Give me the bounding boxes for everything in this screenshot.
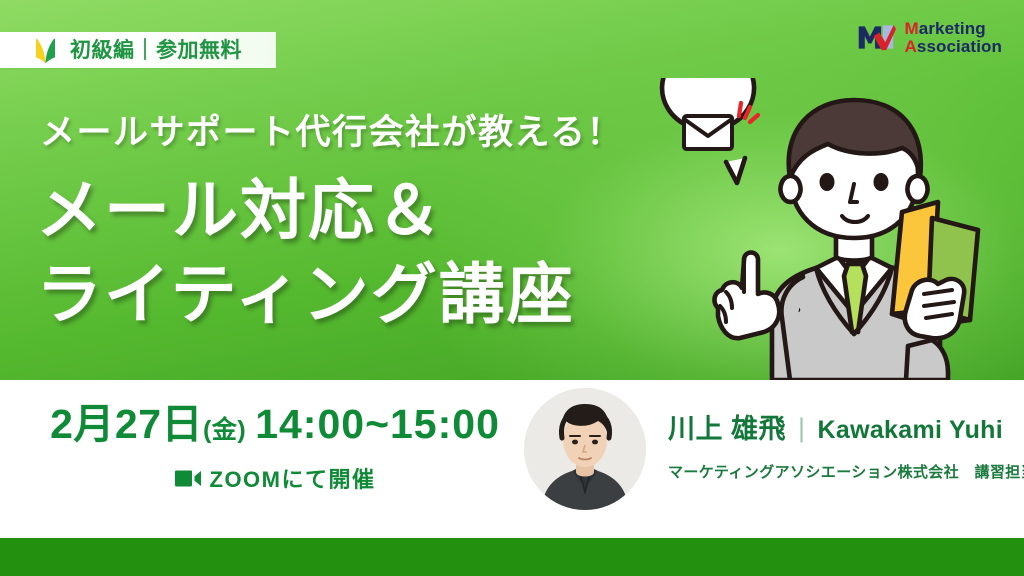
speaker-block: 川上 雄飛|Kawakami Yuhi マーケティングアソシエーション株式会社 … (524, 388, 1024, 510)
brand-logo: Marketing Association (855, 17, 1002, 58)
event-day-of-week: (金) (203, 416, 246, 444)
event-time: 14:00~15:00 (255, 401, 500, 447)
event-platform-label: ZOOMにて開催 (210, 462, 376, 494)
webinar-banner: 初級編｜参加無料 Marketing Association メールサポート代行… (0, 0, 1024, 576)
footer-bar (0, 538, 1024, 576)
hero-section: 初級編｜参加無料 Marketing Association メールサポート代行… (0, 0, 1024, 380)
page-title: メール対応＆ ライティング講座 (36, 168, 575, 337)
brand-line-2: Association (905, 38, 1002, 56)
badge-label: 初級編｜参加無料 (70, 40, 242, 61)
speaker-name-en: Kawakami Yuhi (818, 416, 1003, 444)
young-leaf-icon (36, 38, 55, 63)
speaker-name: 川上 雄飛|Kawakami Yuhi (668, 416, 1024, 443)
event-date-time-row: 2月27日(金)14:00~15:00 (40, 404, 510, 445)
title-line-2: ライティング講座 (36, 252, 575, 336)
speaker-name-ja: 川上 雄飛 (668, 414, 786, 444)
ma-monogram-icon (855, 17, 896, 58)
brand-line-1: Marketing (905, 20, 1002, 38)
speaker-text: 川上 雄飛|Kawakami Yuhi マーケティングアソシエーション株式会社 … (668, 416, 1024, 482)
speaker-organization: マーケティングアソシエーション株式会社 講習担当 (668, 461, 1024, 482)
avatar (524, 388, 646, 510)
event-platform-row: ZOOMにて開催 (40, 462, 510, 494)
speaker-portrait-photo (524, 388, 646, 510)
event-info-section: 2月27日(金)14:00~15:00 ZOOMにて開催 (0, 380, 1024, 538)
hero-subtitle: メールサポート代行会社が教える！ (40, 104, 623, 155)
brand-wordmark: Marketing Association (905, 20, 1002, 55)
businessman-illustration (640, 78, 1024, 380)
name-separator: | (798, 415, 806, 442)
event-date: 2月27日 (50, 401, 203, 447)
title-line-1: メール対応＆ (36, 173, 444, 247)
event-datetime: 2月27日(金)14:00~15:00 ZOOMにて開催 (40, 404, 510, 494)
video-camera-icon (175, 470, 201, 487)
course-level-badge: 初級編｜参加無料 (0, 32, 276, 68)
